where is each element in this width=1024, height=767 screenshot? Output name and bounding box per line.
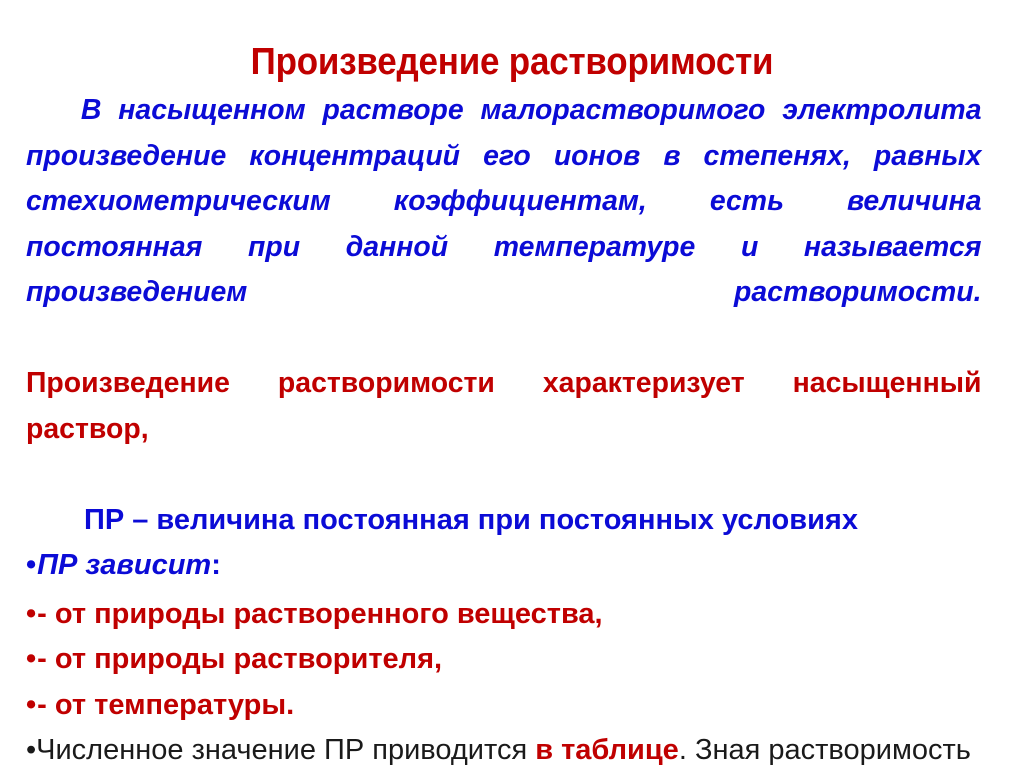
slide-body: В насыщенном растворе малорастворимого э…: [26, 88, 1001, 767]
depends-heading: •ПР зависит:: [26, 543, 1001, 589]
slide-canvas: Произведение растворимости В насыщенном …: [0, 0, 1024, 767]
bullet-icon: •: [26, 637, 36, 683]
closing-paragraph: •Численное значение ПР приводится в табл…: [26, 728, 1001, 767]
depends-heading-colon: :: [211, 549, 221, 581]
closing-paragraph-part1: Численное значение ПР приводится: [36, 734, 535, 766]
list-item-label: - от температуры.: [37, 689, 294, 721]
page-title: Произведение растворимости: [41, 39, 983, 85]
constant-conditions-line: ПР – величина постоянная при постоянных …: [26, 498, 1001, 544]
list-item-label: - от природы растворителя,: [37, 643, 442, 675]
depends-heading-label: ПР зависит: [37, 549, 211, 581]
list-item: •- от температуры.: [26, 683, 1001, 729]
list-item-label: - от природы растворенного вещества,: [37, 598, 602, 630]
characterizes-paragraph: Произведение растворимости характеризует…: [26, 361, 982, 498]
list-item: •- от природы растворенного вещества,: [26, 592, 1001, 638]
bullet-icon: •: [26, 543, 36, 589]
definition-paragraph: В насыщенном растворе малорастворимого э…: [26, 88, 982, 361]
bullet-icon: •: [26, 592, 36, 638]
list-item: •- от природы растворителя,: [26, 637, 1001, 683]
bullet-icon: •: [26, 683, 36, 729]
bullet-icon: •: [26, 734, 36, 766]
table-reference-highlight: в таблице: [535, 734, 679, 766]
